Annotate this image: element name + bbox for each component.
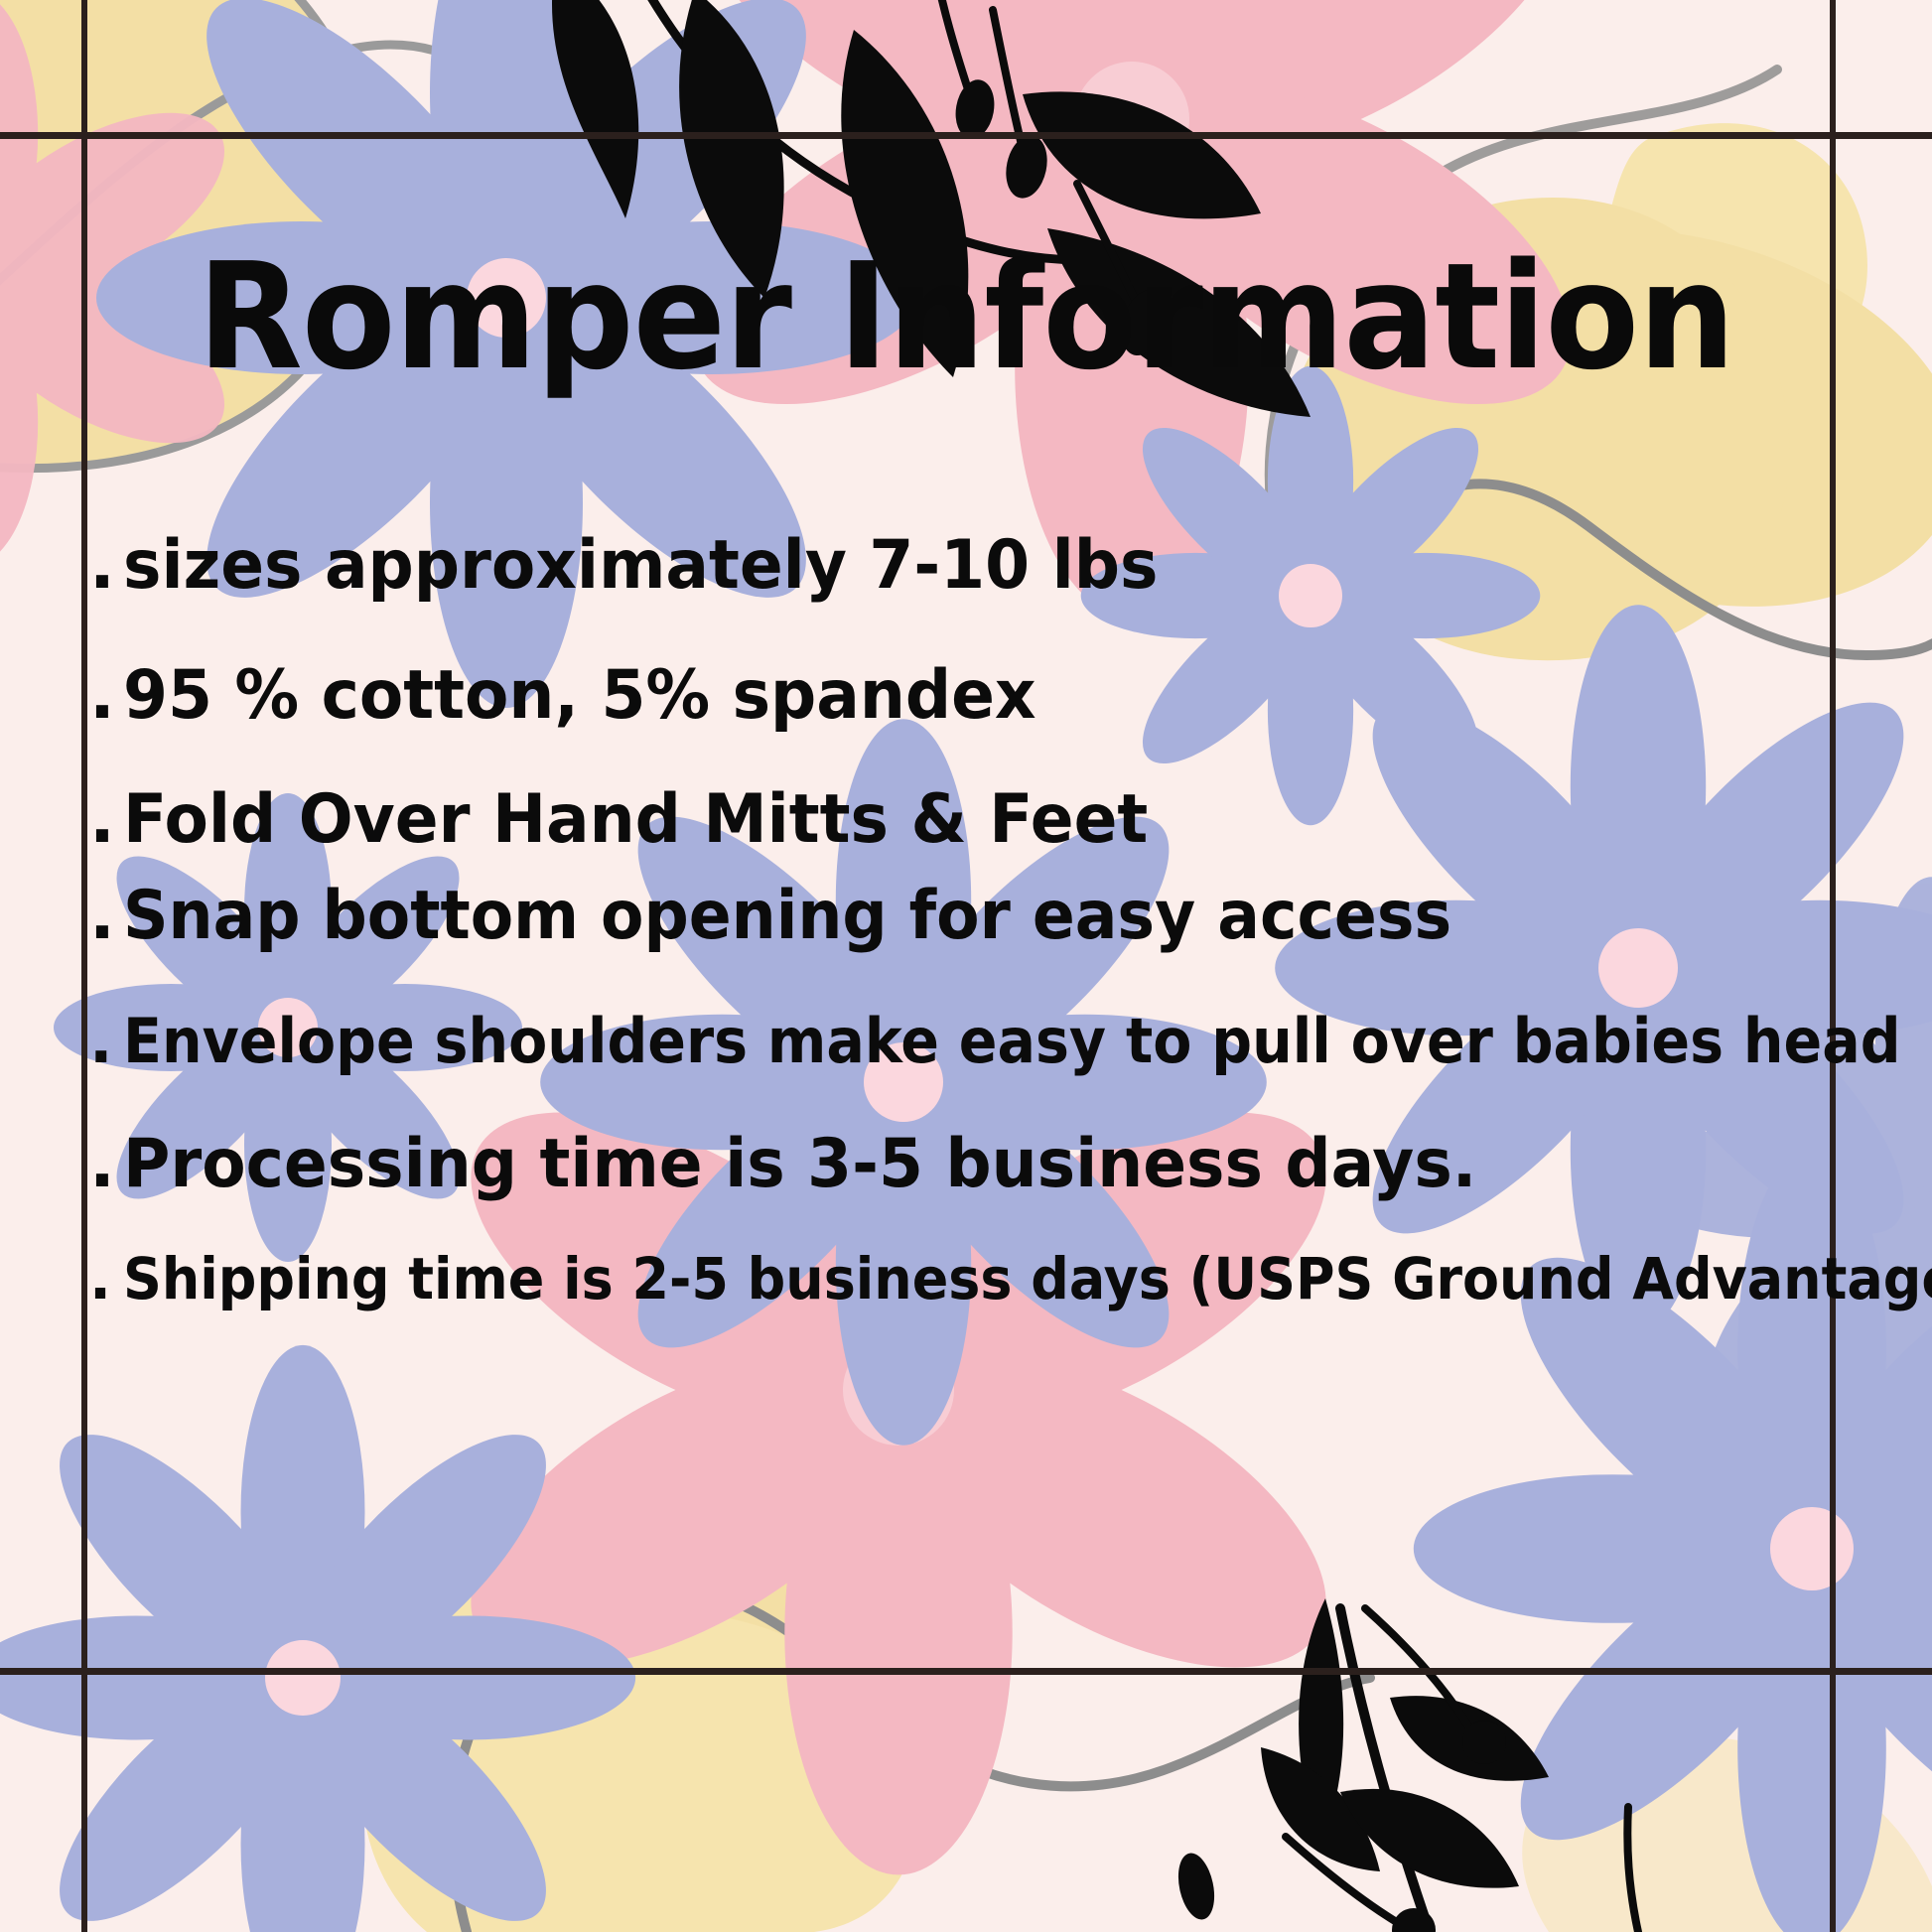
poster-canvas: Romper Information . sizes approximately… [0,0,1932,1932]
list-item: . Snap bottom opening for easy access [89,877,1876,955]
bullet-marker: . [89,780,123,859]
list-item-label: sizes approximately 7-10 lbs [123,526,1158,605]
list-item-label: Fold Over Hand Mitts & Feet [123,780,1148,859]
list-item-label: Envelope shoulders make easy to pull ove… [123,1005,1901,1077]
list-item: . Envelope shoulders make easy to pull o… [89,1005,1876,1077]
bullet-marker: . [89,526,123,605]
bullet-marker: . [89,656,123,735]
bullet-marker: . [89,877,123,955]
list-item-label: Processing time is 3-5 business days. [123,1125,1476,1203]
list-item-label: Shipping time is 2-5 business days (USPS… [123,1245,1932,1312]
bullet-marker: . [89,1245,123,1312]
list-item: . Processing time is 3-5 business days. [89,1125,1876,1203]
list-item-label: Snap bottom opening for easy access [123,877,1451,955]
poster-content: Romper Information . sizes approximately… [0,0,1932,1932]
list-item: . sizes approximately 7-10 lbs [89,526,1876,605]
list-item: . Fold Over Hand Mitts & Feet [89,780,1876,859]
info-list: . sizes approximately 7-10 lbs . 95 % co… [89,526,1876,1346]
list-item: . Shipping time is 2-5 business days (US… [89,1245,1876,1312]
list-item: . 95 % cotton, 5% spandex [89,656,1876,735]
bullet-marker: . [89,1125,123,1203]
list-item-label: 95 % cotton, 5% spandex [123,656,1036,735]
bullet-marker: . [89,1005,123,1077]
page-title: Romper Information [68,243,1864,390]
